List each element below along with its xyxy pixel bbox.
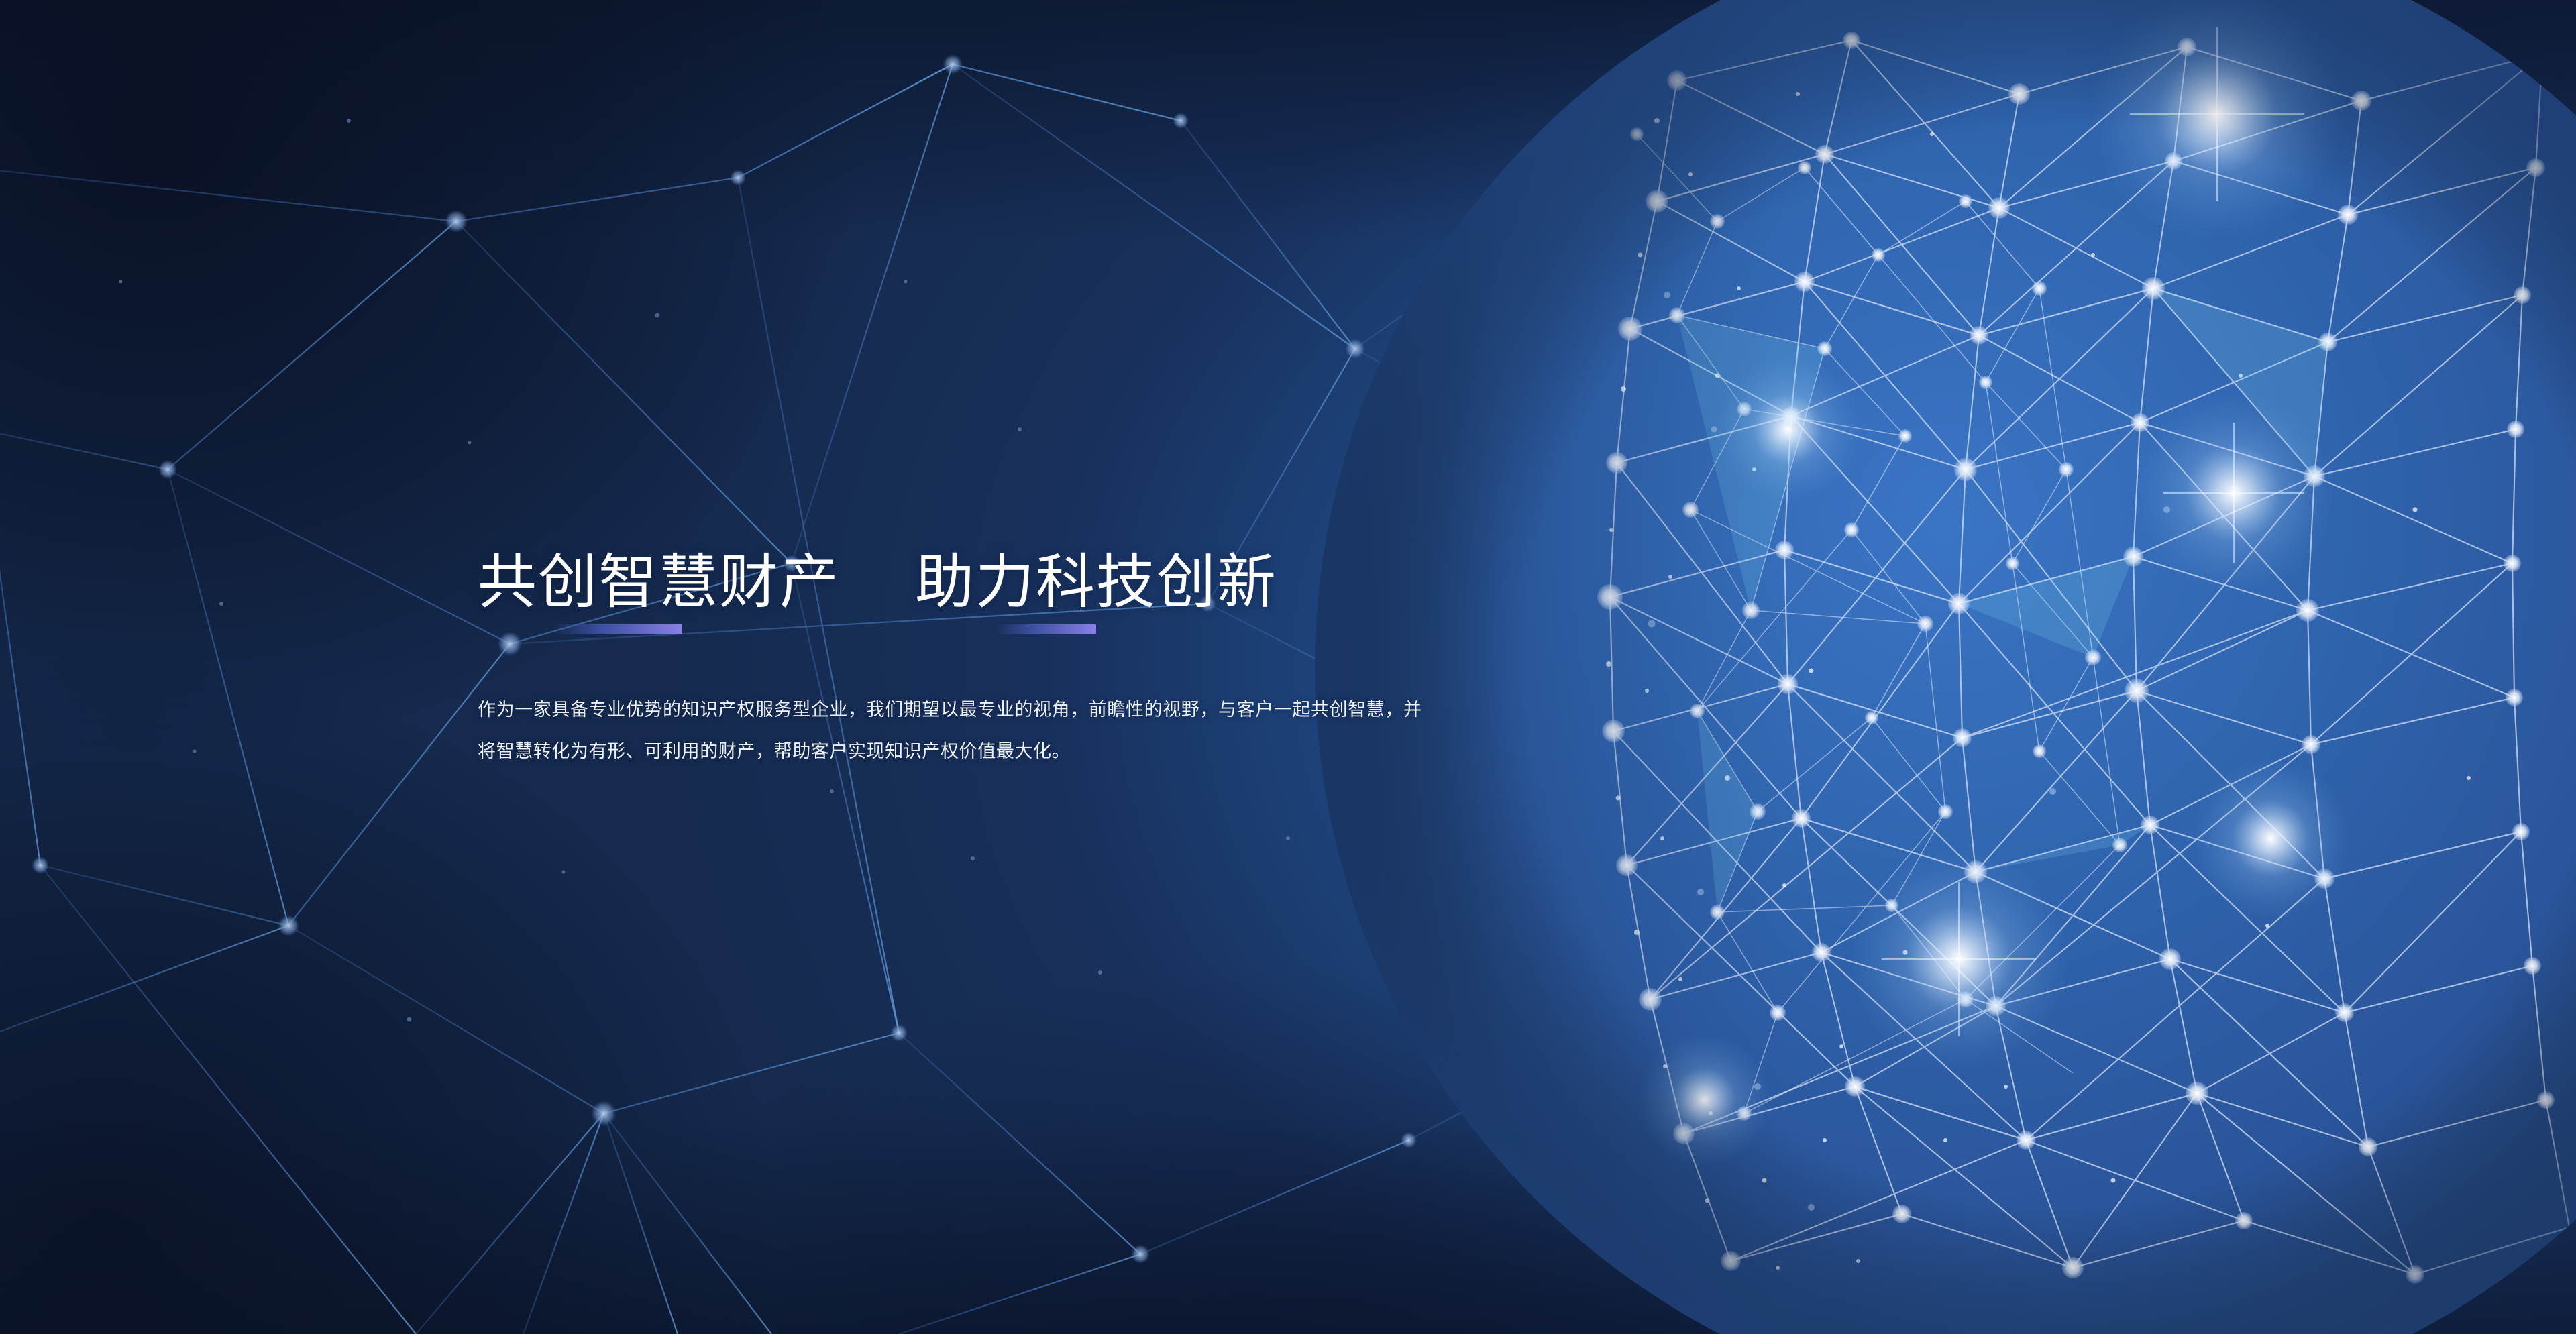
headline-accent-rule-1 <box>555 624 682 634</box>
headline-phrase-1-text: 共创智慧财产 <box>478 545 840 620</box>
headline-phrase-2: 助力科技创新 <box>915 545 1277 620</box>
headline-phrase-2-text: 助力科技创新 <box>915 545 1277 620</box>
headline-phrase-1: 共创智慧财产 <box>478 545 840 620</box>
hero-banner: 共创智慧财产 助力科技创新 作为一家具备专业优势的知识产权服务型企业，我们期望以… <box>0 0 2576 1334</box>
hero-paragraph: 作为一家具备专业优势的知识产权服务型企业，我们期望以最专业的视角，前瞻性的视野，… <box>478 689 1440 772</box>
headline: 共创智慧财产 助力科技创新 <box>478 545 1484 620</box>
headline-accent-rule-2 <box>996 624 1096 634</box>
hero-content: 共创智慧财产 助力科技创新 作为一家具备专业优势的知识产权服务型企业，我们期望以… <box>478 545 1484 772</box>
